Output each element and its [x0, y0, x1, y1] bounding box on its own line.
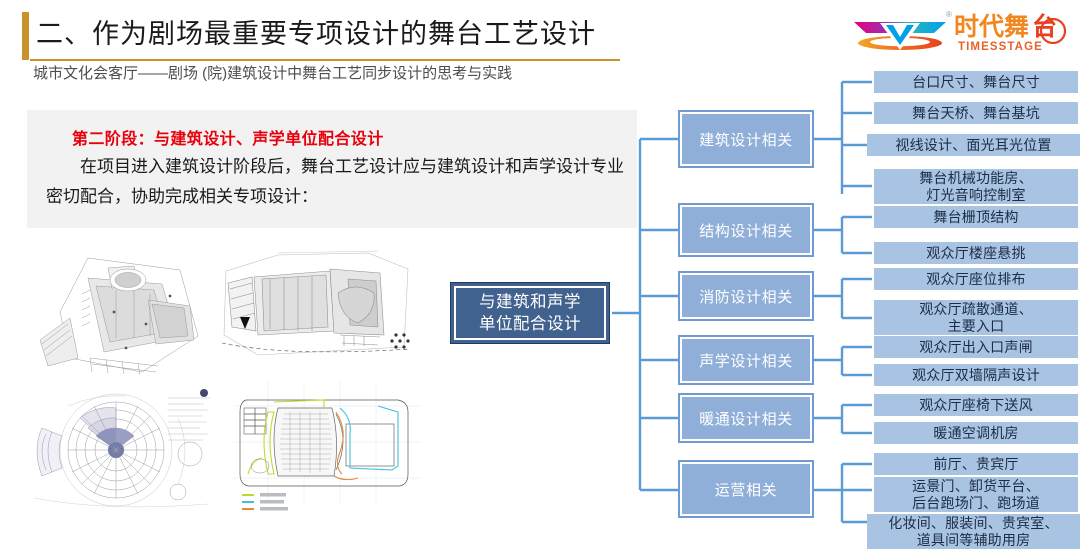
- leaf-node[interactable]: 观众厅楼座悬挑: [874, 242, 1078, 264]
- logo-chinese-wordmark: 时代舞 台: [954, 10, 1072, 44]
- leaf-node-label: 舞台机械功能房、灯光音响控制室: [919, 170, 1033, 204]
- leaf-node-label: 观众厅楼座悬挑: [926, 245, 1025, 262]
- leaf-node[interactable]: 前厅、贵宾厅: [874, 453, 1078, 475]
- title-accent-bar: [22, 12, 29, 60]
- diagram-root-node[interactable]: 与建筑和声学单位配合设计: [450, 282, 610, 344]
- leaf-node-label: 观众厅疏散通道、主要入口: [919, 301, 1033, 335]
- svg-text:时代舞: 时代舞: [954, 13, 1029, 41]
- leaf-node[interactable]: 化妆间、服装间、贵宾室、道具间等辅助用房: [867, 514, 1080, 549]
- brand-logo: ® 时代舞 台 TIMESSTAGE: [850, 8, 1072, 60]
- branch-node-acoustics[interactable]: 声学设计相关: [680, 337, 812, 383]
- auditorium-plan-thumbnail: [228, 378, 424, 516]
- leaf-node[interactable]: 暖通空调机房: [874, 422, 1078, 444]
- leaf-node[interactable]: 观众厅出入口声闸: [874, 336, 1078, 358]
- leaf-node[interactable]: 台口尺寸、舞台尺寸: [874, 71, 1078, 93]
- branch-node-label: 暖通设计相关: [699, 408, 793, 429]
- stage-mark-icon: [850, 12, 950, 56]
- logo-latin-wordmark: TIMESSTAGE: [958, 41, 1043, 53]
- branch-node-hvac[interactable]: 暖通设计相关: [680, 395, 812, 441]
- title-underline: [30, 59, 620, 61]
- leaf-node-label: 观众厅座位排布: [926, 271, 1025, 288]
- branch-node-label: 运营相关: [715, 479, 777, 500]
- leaf-node[interactable]: 视线设计、面光耳光位置: [867, 134, 1080, 156]
- branch-node-label: 声学设计相关: [699, 350, 793, 371]
- leaf-node[interactable]: 观众厅疏散通道、主要入口: [874, 300, 1078, 335]
- leaf-node-label: 观众厅座椅下送风: [919, 397, 1033, 414]
- leaf-node-label: 舞台天桥、舞台基坑: [912, 105, 1040, 122]
- leaf-node-label: 舞台栅顶结构: [933, 209, 1018, 226]
- leaf-node[interactable]: 舞台天桥、舞台基坑: [874, 102, 1078, 124]
- leaf-node-label: 暖通空调机房: [933, 425, 1018, 442]
- registered-mark: ®: [946, 10, 952, 19]
- leaf-node[interactable]: 观众厅座椅下送风: [874, 394, 1078, 416]
- branch-node-label: 建筑设计相关: [699, 129, 793, 150]
- leaf-node[interactable]: 观众厅双墙隔声设计: [874, 364, 1078, 386]
- branch-node-architecture[interactable]: 建筑设计相关: [680, 112, 812, 166]
- circular-theatre-plan-thumbnail: [28, 388, 218, 516]
- page-title: 二、作为剧场最重要专项设计的舞台工艺设计: [36, 12, 596, 51]
- branch-node-fire-protection[interactable]: 消防设计相关: [680, 273, 812, 319]
- leaf-node[interactable]: 舞台栅顶结构: [874, 206, 1078, 228]
- stage-heading: 第二阶段：与建筑设计、声学单位配合设计: [72, 125, 384, 149]
- leaf-node[interactable]: 观众厅座位排布: [874, 268, 1078, 290]
- leaf-node-label: 视线设计、面光耳光位置: [895, 137, 1051, 154]
- leaf-node-label: 台口尺寸、舞台尺寸: [912, 74, 1040, 91]
- roof-plan-thumbnail: [218, 243, 418, 365]
- svg-text:台: 台: [1032, 12, 1057, 41]
- leaf-node-label: 观众厅出入口声闸: [919, 339, 1033, 356]
- branch-node-label: 结构设计相关: [699, 220, 793, 241]
- leaf-node-label: 化妆间、服装间、贵宾室、道具间等辅助用房: [888, 515, 1058, 549]
- leaf-node[interactable]: 舞台机械功能房、灯光音响控制室: [874, 169, 1078, 204]
- design-coordination-diagram: 与建筑和声学单位配合设计 建筑设计相关 结构设计相关 消防设计相关 声学设计相关…: [440, 62, 1080, 552]
- leaf-node[interactable]: 运景门、卸货平台、后台跑场门、跑场道: [874, 477, 1078, 512]
- branch-node-label: 消防设计相关: [699, 286, 793, 307]
- diagram-root-label: 与建筑和声学单位配合设计: [479, 291, 581, 335]
- leaf-node-label: 运景门、卸货平台、后台跑场门、跑场道: [912, 478, 1040, 512]
- leaf-node-label: 前厅、贵宾厅: [933, 456, 1018, 473]
- leaf-node-label: 观众厅双墙隔声设计: [912, 367, 1040, 384]
- branch-node-operations[interactable]: 运营相关: [680, 462, 812, 516]
- branch-node-structure[interactable]: 结构设计相关: [680, 205, 812, 255]
- site-plan-thumbnail: [30, 240, 218, 380]
